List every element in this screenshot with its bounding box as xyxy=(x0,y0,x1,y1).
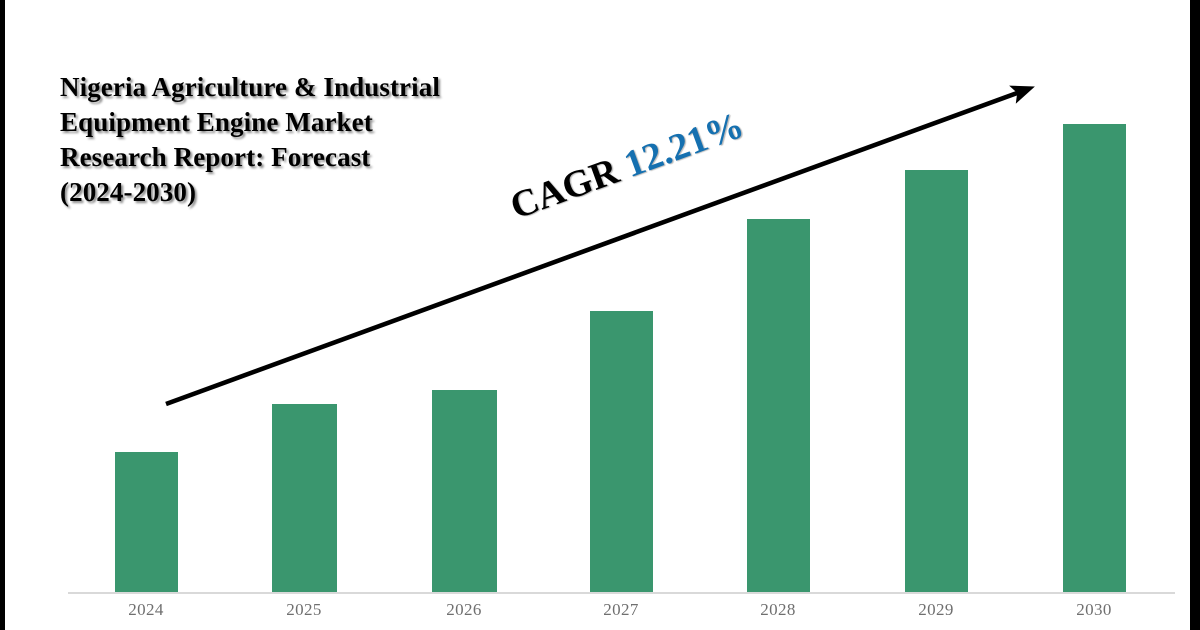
x-tick-2029: 2029 xyxy=(876,600,996,620)
chart-canvas: 2024202520262027202820292030 CAGR 12.21%… xyxy=(0,0,1200,630)
bar-2029 xyxy=(905,170,968,593)
cagr-annotation: CAGR 12.21% xyxy=(504,103,749,228)
x-axis-line xyxy=(68,592,1175,594)
chart-title-line-3: Research Report: Forecast xyxy=(60,140,540,175)
chart-title-line-4: (2024-2030) xyxy=(60,175,540,210)
x-tick-2030: 2030 xyxy=(1034,600,1154,620)
cagr-value-label: 12.21% xyxy=(619,104,749,186)
x-tick-2027: 2027 xyxy=(561,600,681,620)
bar-2026 xyxy=(432,390,497,593)
bar-2030 xyxy=(1063,124,1126,593)
chart-title-line-2: Equipment Engine Market xyxy=(60,105,540,140)
x-tick-2024: 2024 xyxy=(86,600,206,620)
bar-2028 xyxy=(747,219,810,593)
x-tick-2028: 2028 xyxy=(718,600,838,620)
chart-title: Nigeria Agriculture & Industrial Equipme… xyxy=(60,70,540,210)
chart-title-line-1: Nigeria Agriculture & Industrial xyxy=(60,70,540,105)
x-tick-2026: 2026 xyxy=(404,600,524,620)
bar-2025 xyxy=(272,404,337,593)
x-tick-2025: 2025 xyxy=(244,600,364,620)
bar-2027 xyxy=(590,311,653,593)
bar-2024 xyxy=(115,452,178,593)
